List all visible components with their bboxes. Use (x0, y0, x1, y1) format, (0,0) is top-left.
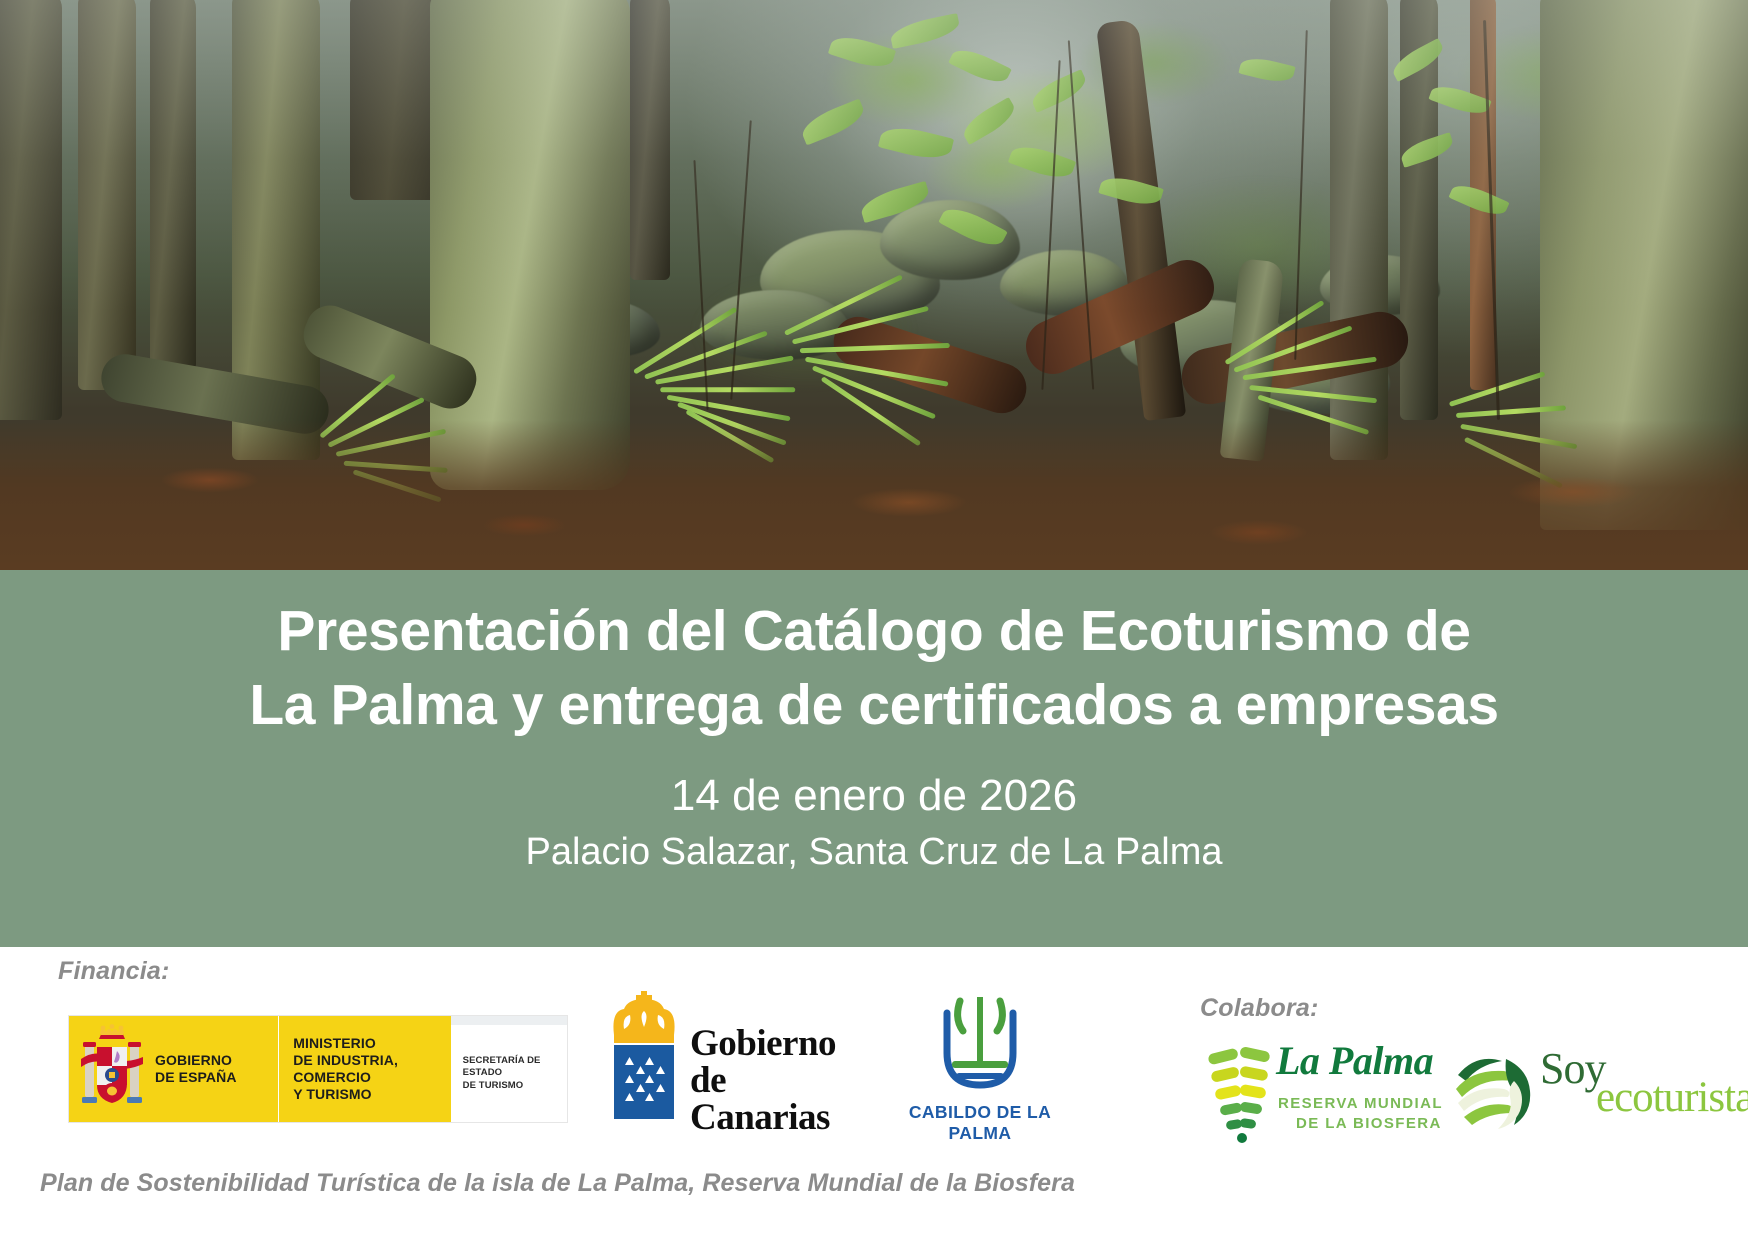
spain-secretary-cell: SECRETARÍA DE ESTADO DE TURISMO (451, 1016, 567, 1122)
event-title-line-1: Presentación del Catálogo de Ecoturismo … (277, 599, 1470, 663)
la-palma-sub-1: RESERVA MUNDIAL (1278, 1095, 1443, 1112)
ministry-line-2: DE INDUSTRIA, COMERCIO (293, 1052, 450, 1086)
secretary-wordmark: SECRETARÍA DE ESTADO DE TURISMO (463, 1055, 567, 1092)
fern (780, 281, 1048, 419)
secretary-line-1: SECRETARÍA DE ESTADO (463, 1055, 567, 1080)
fern (1222, 292, 1470, 428)
logo-la-palma-reserva-biosfera: La Palma RESERVA MUNDIAL DE LA BIOSFERA (1200, 1033, 1415, 1153)
footer-sponsors: Financia: Colabora: (0, 947, 1748, 1240)
logo-gobierno-de-canarias: Gobierno de Canarias (600, 989, 870, 1119)
logo-soy-ecoturista: Soy ecoturista (1448, 1035, 1718, 1147)
event-title: Presentación del Catálogo de Ecoturismo … (0, 594, 1748, 742)
la-palma-sub-2: DE LA BIOSFERA (1296, 1115, 1442, 1132)
spain-line-1: GOBIERNO (155, 1052, 237, 1069)
title-band: Presentación del Catálogo de Ecoturismo … (0, 570, 1748, 947)
financia-label: Financia: (58, 957, 170, 986)
forest-floor-litter (0, 420, 1748, 570)
canarias-line-2: de Canarias (690, 1062, 870, 1136)
spain-ministry-cell: MINISTERIO DE INDUSTRIA, COMERCIO Y TURI… (278, 1016, 450, 1122)
soy-ecoturista-swirl-icon (1448, 1041, 1540, 1133)
event-title-line-2: La Palma y entrega de certificados a emp… (0, 668, 1748, 742)
canarias-shield-icon (600, 989, 688, 1119)
poster-root: Presentación del Catálogo de Ecoturismo … (0, 0, 1748, 1240)
colabora-label: Colabora: (1200, 994, 1318, 1023)
la-palma-wordmark: La Palma (1276, 1037, 1433, 1084)
hero-forest-photo (0, 0, 1748, 570)
spain-coat-of-arms-icon (79, 1023, 145, 1115)
spain-line-2: DE ESPAÑA (155, 1069, 237, 1086)
logo-cabildo-de-la-palma: CABILDO DE LA PALMA (880, 991, 1080, 1121)
ecoturista-word: ecoturista (1596, 1073, 1748, 1122)
ministry-line-3: Y TURISMO (293, 1086, 450, 1103)
tree-trunk (630, 0, 670, 280)
canarias-line-1: Gobierno (690, 1025, 870, 1062)
secretary-line-2: DE TURISMO (463, 1080, 567, 1092)
tree-trunk (150, 0, 196, 370)
ministry-wordmark: MINISTERIO DE INDUSTRIA, COMERCIO Y TURI… (293, 1035, 450, 1103)
la-palma-leaf-icon (1200, 1039, 1278, 1145)
event-venue: Palacio Salazar, Santa Cruz de La Palma (0, 829, 1748, 877)
canarias-wordmark: Gobierno de Canarias (690, 1025, 870, 1136)
tree-trunk (0, 0, 62, 420)
tree-trunk (78, 0, 136, 390)
spain-wordmark: GOBIERNO DE ESPAÑA (155, 1052, 237, 1086)
logo-gobierno-de-espana: GOBIERNO DE ESPAÑA MINISTERIO DE INDUSTR… (68, 1015, 568, 1123)
event-date: 14 de enero de 2026 (0, 768, 1748, 823)
cabildo-emblem-icon (880, 991, 1080, 1095)
ministry-line-1: MINISTERIO (293, 1035, 450, 1052)
cabildo-wordmark: CABILDO DE LA PALMA (880, 1102, 1080, 1144)
spain-crest-cell: GOBIERNO DE ESPAÑA (69, 1016, 278, 1122)
plan-footnote: Plan de Sostenibilidad Turística de la i… (40, 1169, 1075, 1198)
